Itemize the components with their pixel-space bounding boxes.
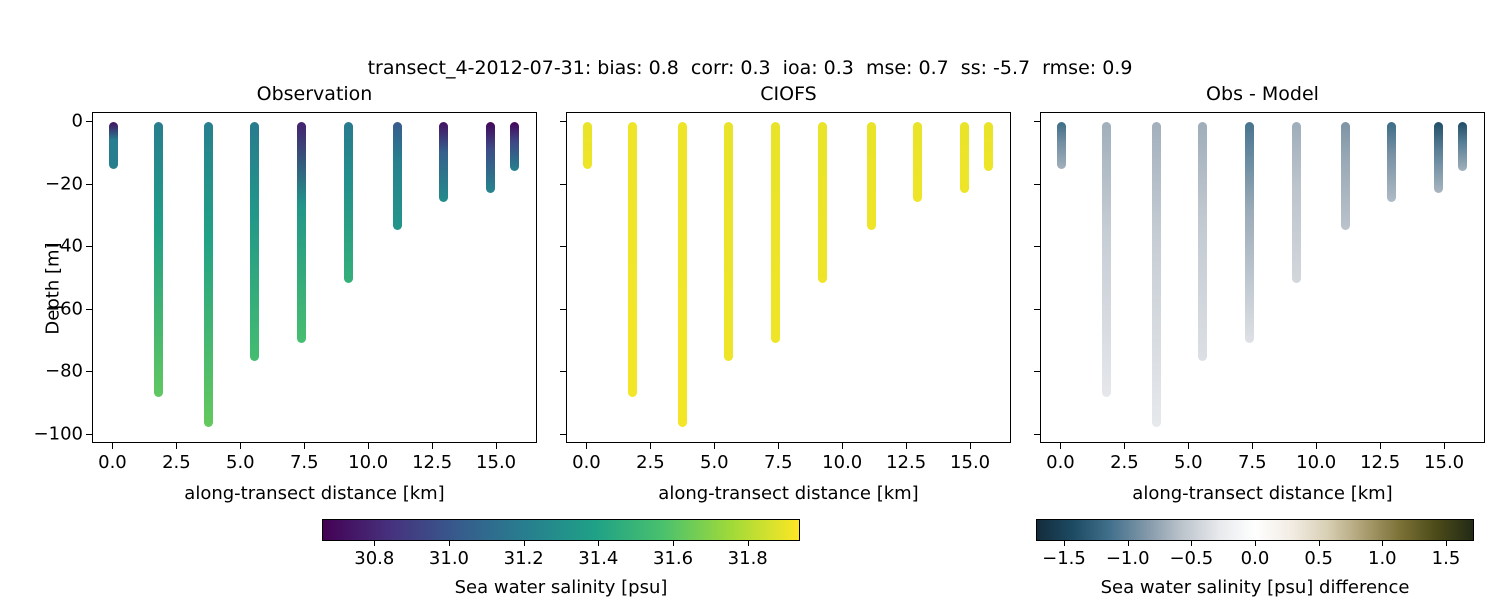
cast-profile-ciofs [628,122,637,397]
panel-title-obs-minus-model: Obs - Model [1040,83,1485,105]
cast-profile-observation [486,122,495,192]
panel-observation: Observation along-transect distance [km]… [92,112,537,443]
ytick-mark [1034,246,1040,247]
xtick-mark [1188,443,1189,449]
ytick-mark [560,309,566,310]
xtick-label: 7.5 [290,452,319,473]
ytick-mark [1034,184,1040,185]
suptitle-line-1: transect_4-2012-07-31: bias: 0.8 corr: 0… [0,56,1500,81]
ytick-label: −40 [45,236,83,257]
xtick-mark [176,443,177,449]
colorbar-tick-mark [1319,541,1320,546]
cast-profile-ciofs [818,122,827,283]
cast-profile-ciofs [678,122,687,426]
xtick-mark [1060,443,1061,449]
xtick-label: 5.0 [1174,452,1203,473]
colorbar-tick-mark [524,541,525,546]
ytick-label: 0 [72,111,83,132]
colorbar-tick-mark [449,541,450,546]
ytick-mark [560,371,566,372]
xtick-mark [496,443,497,449]
xtick-mark [1316,443,1317,449]
cast-profile-ciofs [913,122,922,202]
xtick-mark [1444,443,1445,449]
colorbar-tick-label: −0.5 [1169,548,1213,569]
colorbar-tick-label: 31.0 [429,548,469,569]
colorbar-tick-mark [1255,541,1256,546]
colorbar-tick-label: 31.4 [578,548,618,569]
panel-title-observation: Observation [92,83,537,105]
xtick-label: 2.5 [636,452,665,473]
xlabel-obs-minus-model: along-transect distance [km] [1040,483,1485,504]
cast-profile-ciofs [583,122,592,169]
cast-profile-observation [393,122,402,230]
panel-title-ciofs: CIOFS [566,83,1011,105]
cast-profile-difference [1292,122,1301,283]
xtick-mark [970,443,971,449]
xtick-label: 12.5 [412,452,452,473]
cast-profile-ciofs [724,122,733,361]
ytick-label: −100 [34,423,83,444]
xtick-label: 10.0 [1296,452,1336,473]
cast-profile-observation [204,122,213,426]
colorbar-tick-mark [1128,541,1129,546]
cast-profile-observation [344,122,353,283]
xtick-label: 10.0 [822,452,862,473]
colorbar-tick-label: 1.0 [1368,548,1397,569]
cast-profile-difference [1102,122,1111,397]
ytick-mark [86,434,92,435]
xtick-mark [1124,443,1125,449]
ytick-mark [86,184,92,185]
xtick-label: 5.0 [700,452,729,473]
axes-ciofs[interactable] [566,112,1011,443]
xtick-mark [1380,443,1381,449]
cast-profile-difference [1198,122,1207,361]
colorbar-tick-label: −1.0 [1106,548,1150,569]
cast-profile-difference [1458,122,1467,170]
xtick-label: 12.5 [886,452,926,473]
cast-profile-difference [1152,122,1161,426]
xtick-mark [240,443,241,449]
colorbar-tick-mark [1382,541,1383,546]
xtick-label: 2.5 [1110,452,1139,473]
cast-profile-ciofs [867,122,876,230]
colorbar-tick-label: 30.8 [354,548,394,569]
ytick-label: −60 [45,298,83,319]
cast-profile-difference [1434,122,1443,192]
colorbar-tick-mark [1191,541,1192,546]
xlabel-observation: along-transect distance [km] [92,483,537,504]
colorbar-tick-label: 31.6 [653,548,693,569]
colorbar-tick-label: −1.5 [1042,548,1086,569]
axes-obs-minus-model[interactable] [1040,112,1485,443]
xtick-label: 5.0 [226,452,255,473]
ytick-mark [86,371,92,372]
cast-profile-observation [439,122,448,202]
ytick-mark [86,309,92,310]
cast-profile-observation [510,122,519,170]
ytick-mark [560,184,566,185]
xtick-mark [368,443,369,449]
xtick-label: 0.0 [1046,452,1075,473]
xtick-mark [842,443,843,449]
colorbar-tick-mark [598,541,599,546]
xtick-label: 0.0 [572,452,601,473]
xtick-mark [650,443,651,449]
xtick-label: 7.5 [1238,452,1267,473]
colorbar-salinity-difference: Sea water salinity [psu] difference −1.5… [1036,519,1474,541]
xtick-mark [1252,443,1253,449]
ytick-label: −20 [45,173,83,194]
xtick-label: 2.5 [162,452,191,473]
cast-profile-observation [250,122,259,361]
colorbar-tick-mark [673,541,674,546]
xtick-label: 15.0 [950,452,990,473]
ytick-mark [560,246,566,247]
panel-obs-minus-model: Obs - Model along-transect distance [km]… [1040,112,1485,443]
xtick-mark [714,443,715,449]
xtick-label: 0.0 [98,452,127,473]
ytick-mark [86,246,92,247]
xlabel-ciofs: along-transect distance [km] [566,483,1011,504]
xtick-label: 10.0 [348,452,388,473]
ytick-mark [560,434,566,435]
cast-profile-ciofs [960,122,969,192]
colorbar-tick-mark [748,541,749,546]
cast-profile-ciofs [771,122,780,342]
figure-canvas: transect_4-2012-07-31: bias: 0.8 corr: 0… [0,0,1500,600]
ytick-mark [86,121,92,122]
cast-profile-observation [154,122,163,397]
cast-profile-difference [1057,122,1066,169]
cast-profile-difference [1387,122,1396,202]
xtick-mark [304,443,305,449]
xtick-label: 7.5 [764,452,793,473]
axes-observation[interactable] [92,112,537,443]
cast-profile-difference [1245,122,1254,342]
cast-profile-observation [109,122,118,169]
cast-profile-ciofs [984,122,993,170]
colorbar-salinity-gradient [322,519,800,541]
colorbar-tick-mark [374,541,375,546]
colorbar-tick-label: 31.2 [504,548,544,569]
cast-profile-difference [1341,122,1350,230]
colorbar-tick-label: 0.0 [1241,548,1270,569]
ytick-mark [1034,309,1040,310]
colorbar-salinity-difference-gradient [1036,519,1474,541]
colorbar-tick-mark [1064,541,1065,546]
colorbar-tick-label: 31.8 [728,548,768,569]
panel-ciofs: CIOFS along-transect distance [km] 0.02.… [566,112,1011,443]
xtick-mark [112,443,113,449]
ytick-mark [560,121,566,122]
ytick-mark [1034,371,1040,372]
xtick-label: 15.0 [1424,452,1464,473]
ytick-mark [1034,121,1040,122]
colorbar-salinity: Sea water salinity [psu] 30.831.031.231.… [322,519,800,541]
xtick-mark [778,443,779,449]
colorbar-salinity-difference-label: Sea water salinity [psu] difference [1036,577,1474,598]
xtick-label: 12.5 [1360,452,1400,473]
xtick-label: 15.0 [476,452,516,473]
colorbar-tick-mark [1446,541,1447,546]
colorbar-tick-label: 0.5 [1304,548,1333,569]
xtick-mark [586,443,587,449]
colorbar-tick-label: 1.5 [1432,548,1461,569]
ytick-mark [1034,434,1040,435]
ytick-label: −80 [45,361,83,382]
colorbar-salinity-label: Sea water salinity [psu] [322,577,800,598]
xtick-mark [432,443,433,449]
cast-profile-observation [297,122,306,342]
xtick-mark [906,443,907,449]
